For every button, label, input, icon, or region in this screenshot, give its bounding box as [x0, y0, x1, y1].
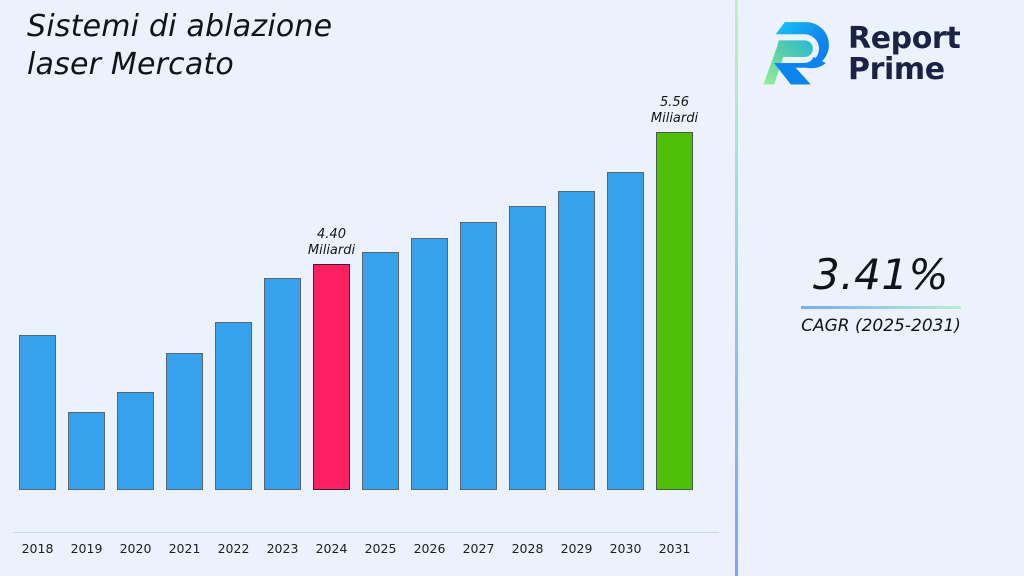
infographic-canvas: Sistemi di ablazione laser Mercato 4.40M… — [0, 0, 1024, 576]
x-tick-2031: 2031 — [650, 541, 699, 556]
bar-rect-2030 — [607, 172, 644, 490]
cagr-divider-rule — [801, 306, 961, 309]
bar-rect-2028 — [509, 206, 546, 490]
chart-panel: Sistemi di ablazione laser Mercato 4.40M… — [0, 0, 735, 576]
x-tick-2025: 2025 — [356, 541, 405, 556]
bar-2018 — [19, 335, 56, 490]
side-panel: Report Prime 3.41% CAGR (2025-2031) — [738, 0, 1024, 576]
cagr-caption: CAGR (2025-2031) — [738, 315, 1024, 337]
bar-rect-2018 — [19, 335, 56, 490]
bar-rect-2020 — [117, 392, 154, 490]
bar-2030 — [607, 172, 644, 490]
x-tick-2029: 2029 — [552, 541, 601, 556]
x-tick-2028: 2028 — [503, 541, 552, 556]
bar-chart-plot: 4.40Miliardi5.56Miliardi 201820192020202… — [0, 0, 735, 533]
bar-value-number-2031: 5.56 — [651, 95, 698, 111]
x-tick-2026: 2026 — [405, 541, 454, 556]
brand-wordmark-line2: Prime — [848, 54, 960, 85]
brand-wordmark-line1: Report — [848, 23, 960, 54]
x-tick-2027: 2027 — [454, 541, 503, 556]
bar-2026 — [411, 238, 448, 490]
report-prime-logo-mark — [762, 17, 838, 91]
bar-value-number-2024: 4.40 — [308, 227, 355, 243]
bar-value-unit-2024: Miliardi — [308, 243, 355, 259]
cagr-block: 3.41% CAGR (2025-2031) — [738, 252, 1024, 337]
x-tick-2018: 2018 — [13, 541, 62, 556]
bar-rect-2027 — [460, 222, 497, 490]
brand-wordmark: Report Prime — [848, 23, 960, 85]
bar-rect-2029 — [558, 191, 595, 490]
bar-2023 — [264, 278, 301, 490]
x-tick-2023: 2023 — [258, 541, 307, 556]
bar-value-label-2024: 4.40Miliardi — [308, 227, 355, 259]
x-tick-2022: 2022 — [209, 541, 258, 556]
bar-rect-2022 — [215, 322, 252, 490]
bar-2028 — [509, 206, 546, 490]
x-tick-2030: 2030 — [601, 541, 650, 556]
bar-2022 — [215, 322, 252, 490]
bar-rect-2021 — [166, 353, 203, 490]
cagr-value: 3.41% — [738, 252, 1024, 298]
bar-rect-2026 — [411, 238, 448, 490]
bar-2025 — [362, 252, 399, 490]
brand-logo: Report Prime — [762, 14, 1008, 94]
x-axis-line — [13, 532, 719, 533]
bar-value-unit-2031: Miliardi — [651, 111, 698, 127]
bar-rect-2025 — [362, 252, 399, 490]
x-tick-2024: 2024 — [307, 541, 356, 556]
x-tick-2019: 2019 — [62, 541, 111, 556]
bar-2027 — [460, 222, 497, 490]
bar-2020 — [117, 392, 154, 490]
bar-2021 — [166, 353, 203, 490]
bar-rect-2019 — [68, 412, 105, 490]
bar-rect-2024 — [313, 264, 350, 490]
bar-2029 — [558, 191, 595, 490]
x-tick-2021: 2021 — [160, 541, 209, 556]
bar-2031: 5.56Miliardi — [656, 132, 693, 490]
bar-2024: 4.40Miliardi — [313, 264, 350, 490]
x-tick-2020: 2020 — [111, 541, 160, 556]
bar-rect-2031 — [656, 132, 693, 490]
bar-rect-2023 — [264, 278, 301, 490]
bar-value-label-2031: 5.56Miliardi — [651, 95, 698, 127]
bar-2019 — [68, 412, 105, 490]
